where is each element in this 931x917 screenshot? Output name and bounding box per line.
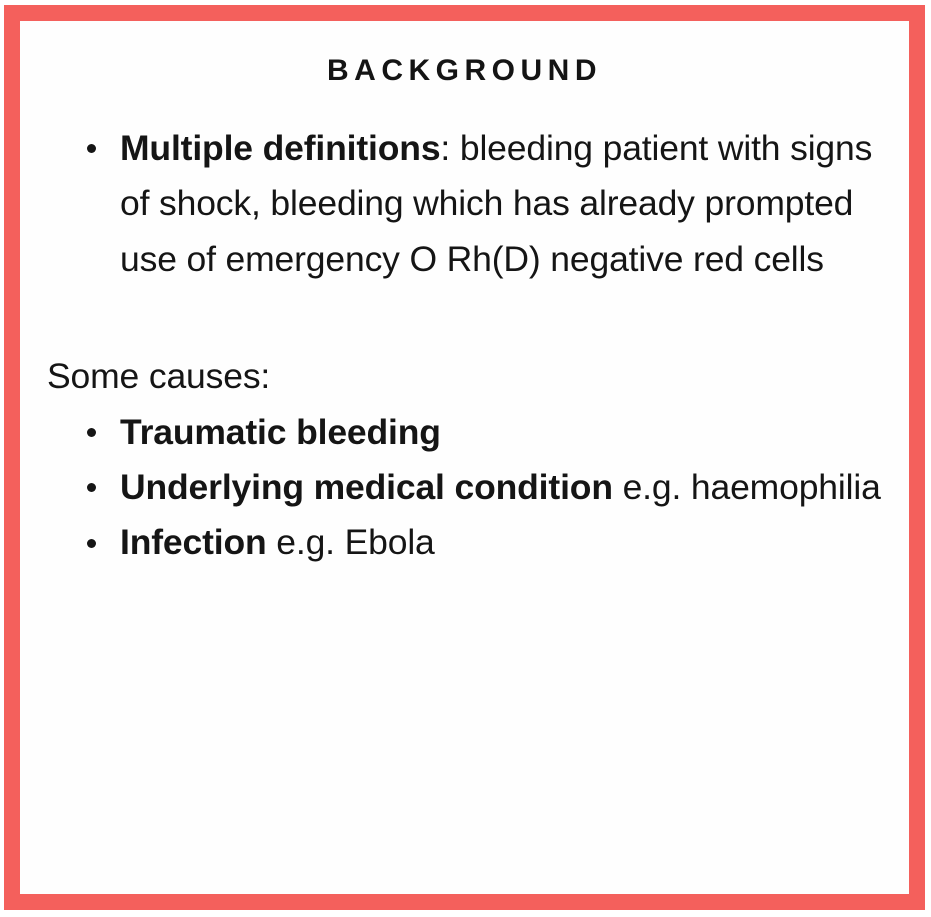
page-title: BACKGROUND: [20, 53, 909, 89]
cause-lead-infection: Infection: [120, 522, 267, 562]
slide-body: Multiple definitions: bleeding patient w…: [33, 121, 899, 571]
causes-list: Traumatic bleeding Underlying medical co…: [33, 405, 899, 571]
definition-lead: Multiple definitions: [120, 128, 440, 168]
cause-rest-underlying: e.g. haemophilia: [613, 467, 881, 507]
slide-card-inner: BACKGROUND Multiple definitions: bleedin…: [20, 21, 909, 894]
slide-card-border: BACKGROUND Multiple definitions: bleedin…: [4, 5, 925, 910]
list-item: Traumatic bleeding: [33, 405, 899, 460]
cause-lead-traumatic: Traumatic bleeding: [120, 412, 441, 452]
cause-lead-underlying: Underlying medical condition: [120, 467, 613, 507]
slide: BACKGROUND Multiple definitions: bleedin…: [0, 0, 931, 917]
cause-rest-infection: e.g. Ebola: [267, 522, 435, 562]
definition-list: Multiple definitions: bleeding patient w…: [33, 121, 899, 287]
list-item: Multiple definitions: bleeding patient w…: [33, 121, 899, 287]
spacer: [33, 287, 899, 349]
causes-heading: Some causes:: [33, 349, 899, 404]
list-item: Infection e.g. Ebola: [33, 515, 899, 570]
list-item: Underlying medical condition e.g. haemop…: [33, 460, 899, 515]
